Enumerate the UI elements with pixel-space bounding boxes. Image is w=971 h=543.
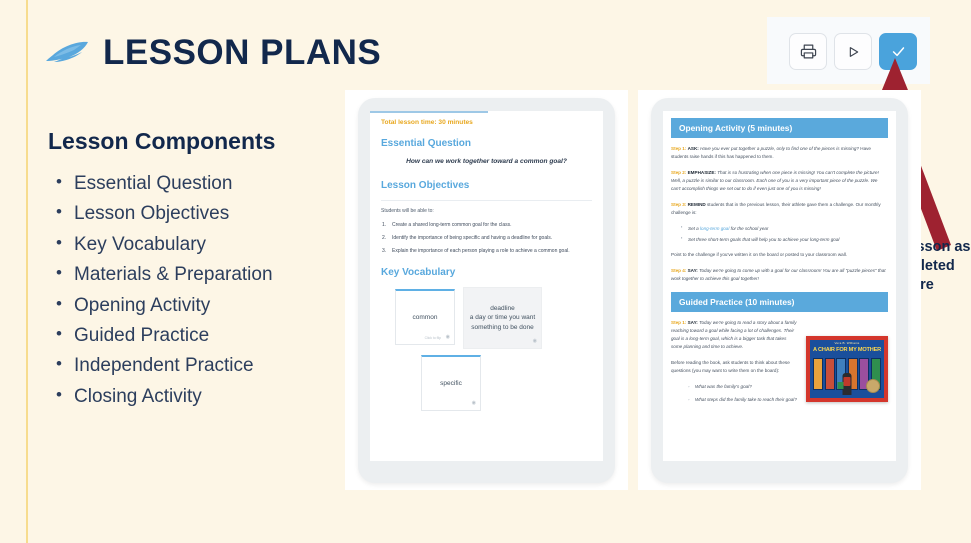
vocab-term: specific bbox=[440, 379, 462, 388]
point-note: Point to the challenge if you've written… bbox=[671, 251, 888, 259]
top-rule bbox=[370, 111, 488, 113]
guided-questions: What was the family's goal? What steps d… bbox=[688, 383, 798, 404]
feather-icon bbox=[45, 40, 89, 66]
guided-note: Before reading the book, ask students to… bbox=[671, 359, 798, 375]
guided-question: What was the family's goal? bbox=[688, 383, 798, 391]
guided-practice-heading: Guided Practice (10 minutes) bbox=[671, 292, 888, 312]
essential-question-text: How can we work together toward a common… bbox=[381, 158, 592, 165]
lesson-components-list: Essential Question Lesson Objectives Key… bbox=[48, 169, 348, 412]
list-item: Essential Question bbox=[48, 169, 348, 199]
opening-step-1: Step 1: ASK: Have you ever put together … bbox=[671, 145, 888, 161]
long-term-goal-link[interactable]: long-term goal bbox=[700, 226, 729, 231]
list-item: Guided Practice bbox=[48, 321, 348, 351]
lesson-time-label: Total lesson time: 30 minutes bbox=[381, 119, 592, 126]
challenge-bullet: Set a long-term goal for the school year bbox=[681, 225, 888, 233]
challenge-bullet: Set three short-term goals that will hel… bbox=[681, 236, 888, 244]
vocabulary-cards: common Click to flip ◉ deadlinea day or … bbox=[381, 287, 592, 417]
key-vocabulary-heading: Key Vocabulary bbox=[381, 267, 592, 278]
tablet-frame-left: Total lesson time: 30 minutes Essential … bbox=[358, 98, 615, 483]
book-cover-art: Vera B. Williams A CHAIR FOR MY MOTHER bbox=[810, 340, 884, 398]
objective-item: Explain the importance of each person pl… bbox=[381, 248, 592, 254]
essential-question-heading: Essential Question bbox=[381, 138, 592, 149]
vocab-card-deadline[interactable]: deadlinea day or time you want something… bbox=[463, 287, 542, 349]
lesson-document-right: Opening Activity (5 minutes) Step 1: ASK… bbox=[663, 111, 896, 409]
lesson-objectives-heading: Lesson Objectives bbox=[381, 180, 592, 191]
list-item: Key Vocabulary bbox=[48, 230, 348, 260]
book-author: Vera B. Williams bbox=[810, 341, 884, 345]
opening-step-4: Step 4: SAY: Today we're going to come u… bbox=[671, 267, 888, 283]
objective-item: Create a shared long-term common goal fo… bbox=[381, 222, 592, 228]
challenge-bullets: Set a long-term goal for the school year… bbox=[681, 225, 888, 244]
guided-practice-body: Step 1: SAY: Today we're going to read a… bbox=[671, 319, 888, 409]
opening-step-3: Step 3: REMIND students that in the prev… bbox=[671, 201, 888, 217]
book-cover: Vera B. Williams A CHAIR FOR MY MOTHER bbox=[806, 336, 888, 402]
lesson-document-left: Total lesson time: 30 minutes Essential … bbox=[370, 111, 603, 417]
print-icon bbox=[800, 43, 817, 60]
lesson-preview-panel-right: Opening Activity (5 minutes) Step 1: ASK… bbox=[638, 90, 921, 490]
book-title: A CHAIR FOR MY MOTHER bbox=[812, 347, 882, 353]
list-item: Closing Activity bbox=[48, 382, 348, 412]
list-item: Opening Activity bbox=[48, 291, 348, 321]
vocab-term: common bbox=[413, 313, 438, 322]
caldecott-medal-icon bbox=[866, 379, 880, 393]
vocab-card-common[interactable]: common Click to flip ◉ bbox=[395, 289, 455, 345]
guided-step-1: Step 1: SAY: Today we're going to read a… bbox=[671, 319, 798, 351]
list-item: Independent Practice bbox=[48, 351, 348, 381]
page-title: LESSON PLANS bbox=[103, 35, 381, 70]
page-header: LESSON PLANS bbox=[45, 35, 381, 70]
guided-question: What steps did the family take to reach … bbox=[688, 396, 798, 404]
vocab-card-specific[interactable]: specific ◉ bbox=[421, 355, 481, 411]
objectives-list: Create a shared long-term common goal fo… bbox=[381, 222, 592, 254]
vocab-definition: deadlinea day or time you want something… bbox=[469, 304, 536, 332]
list-item: Lesson Objectives bbox=[48, 199, 348, 229]
objective-item: Identify the importance of being specifi… bbox=[381, 235, 592, 241]
objectives-intro: Students will be able to: bbox=[381, 200, 592, 214]
opening-step-2: Step 2: EMPHASIZE: That is so frustratin… bbox=[671, 169, 888, 193]
lesson-components-section: Lesson Components Essential Question Les… bbox=[48, 128, 348, 412]
left-accent-rule bbox=[26, 0, 28, 543]
eye-icon[interactable]: ◉ bbox=[533, 338, 537, 345]
vocab-hint: Click to flip bbox=[425, 336, 441, 341]
lesson-components-heading: Lesson Components bbox=[48, 128, 348, 155]
opening-activity-heading: Opening Activity (5 minutes) bbox=[671, 118, 888, 138]
tablet-frame-right: Opening Activity (5 minutes) Step 1: ASK… bbox=[651, 98, 908, 483]
tablet-screen-right[interactable]: Opening Activity (5 minutes) Step 1: ASK… bbox=[663, 111, 896, 461]
eye-icon[interactable]: ◉ bbox=[446, 334, 450, 341]
tablet-screen-left[interactable]: Total lesson time: 30 minutes Essential … bbox=[370, 111, 603, 461]
print-button[interactable] bbox=[789, 33, 827, 70]
eye-icon[interactable]: ◉ bbox=[472, 400, 476, 407]
list-item: Materials & Preparation bbox=[48, 260, 348, 290]
lesson-preview-panel-left: Total lesson time: 30 minutes Essential … bbox=[345, 90, 628, 490]
book-figure bbox=[843, 373, 852, 395]
